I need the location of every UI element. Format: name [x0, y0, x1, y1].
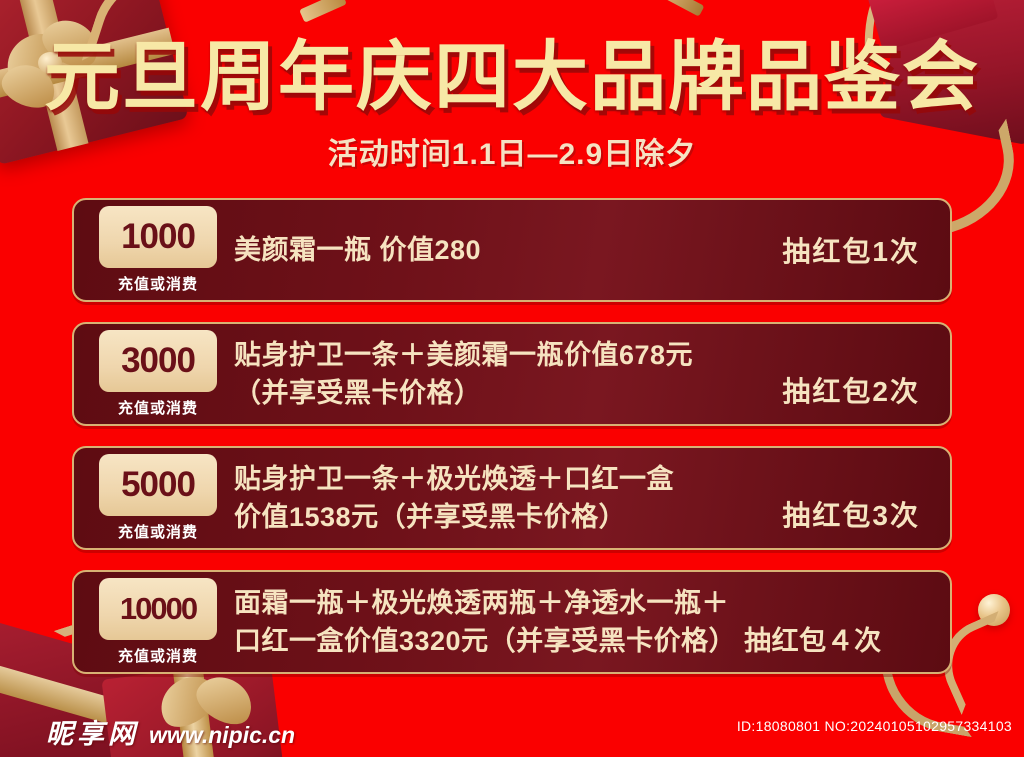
- offer-description-line: 贴身护卫一条＋极光焕透＋口红一盒: [234, 460, 782, 498]
- offer-amount-group: 1000 充值或消费: [88, 206, 228, 294]
- offer-reward: 抽红包2次: [782, 370, 950, 424]
- promo-poster: 元旦周年庆四大品牌品鉴会 活动时间1.1日—2.9日除夕 1000 充值或消费 …: [0, 0, 1024, 757]
- offer-row: 10000 充值或消费 面霜一瓶＋极光焕透两瓶＋净透水一瓶＋ 口红一盒价值332…: [72, 570, 952, 674]
- offer-description-line: 贴身护卫一条＋美颜霜一瓶价值678元: [234, 336, 782, 374]
- offer-description-line: 面霜一瓶＋极光焕透两瓶＋净透水一瓶＋: [234, 584, 950, 622]
- offer-amount-badge: 1000: [99, 206, 217, 268]
- offer-amount-label: 充值或消费: [88, 521, 228, 542]
- offer-description: 美颜霜一瓶 价值280: [228, 231, 782, 269]
- page-subtitle: 活动时间1.1日—2.9日除夕: [0, 129, 1024, 173]
- offer-description-line: 价值1538元（并享受黑卡价格）: [234, 498, 782, 536]
- offer-amount-group: 5000 充值或消费: [88, 454, 228, 542]
- page-title: 元旦周年庆四大品牌品鉴会: [0, 0, 1024, 119]
- offer-amount-label: 充值或消费: [88, 645, 228, 666]
- offer-description-line: （并享受黑卡价格）: [234, 374, 782, 412]
- offer-amount-label: 充值或消费: [88, 273, 228, 294]
- watermark-brand: 昵享网: [46, 712, 139, 751]
- offer-list: 1000 充值或消费 美颜霜一瓶 价值280 抽红包1次 3000 充值或消费 …: [72, 198, 952, 694]
- offer-description: 面霜一瓶＋极光焕透两瓶＋净透水一瓶＋ 口红一盒价值3320元（并享受黑卡价格） …: [228, 584, 950, 661]
- offer-amount-badge: 5000: [99, 454, 217, 516]
- pearl-icon-right: [978, 594, 1010, 626]
- offer-amount-group: 10000 充值或消费: [88, 578, 228, 666]
- watermark: 昵享网 www.nipic.cn: [46, 712, 295, 751]
- poster-header: 元旦周年庆四大品牌品鉴会 活动时间1.1日—2.9日除夕: [0, 0, 1024, 173]
- offer-reward: 抽红包1次: [782, 230, 950, 270]
- offer-description: 贴身护卫一条＋极光焕透＋口红一盒 价值1538元（并享受黑卡价格）: [228, 460, 782, 537]
- offer-description-line: 口红一盒价值3320元（并享受黑卡价格） 抽红包４次: [234, 622, 950, 660]
- image-id-text: ID:18080801 NO:20240105102957334103: [737, 718, 1012, 734]
- offer-description: 贴身护卫一条＋美颜霜一瓶价值678元 （并享受黑卡价格）: [228, 336, 782, 413]
- offer-description-line: 美颜霜一瓶 价值280: [234, 231, 782, 269]
- offer-reward: 抽红包3次: [782, 494, 950, 548]
- offer-amount-group: 3000 充值或消费: [88, 330, 228, 418]
- offer-row: 5000 充值或消费 贴身护卫一条＋极光焕透＋口红一盒 价值1538元（并享受黑…: [72, 446, 952, 550]
- offer-amount-badge: 10000: [99, 578, 217, 640]
- watermark-url: www.nipic.cn: [149, 722, 295, 749]
- offer-row: 1000 充值或消费 美颜霜一瓶 价值280 抽红包1次: [72, 198, 952, 302]
- offer-row: 3000 充值或消费 贴身护卫一条＋美颜霜一瓶价值678元 （并享受黑卡价格） …: [72, 322, 952, 426]
- offer-amount-badge: 3000: [99, 330, 217, 392]
- offer-amount-label: 充值或消费: [88, 397, 228, 418]
